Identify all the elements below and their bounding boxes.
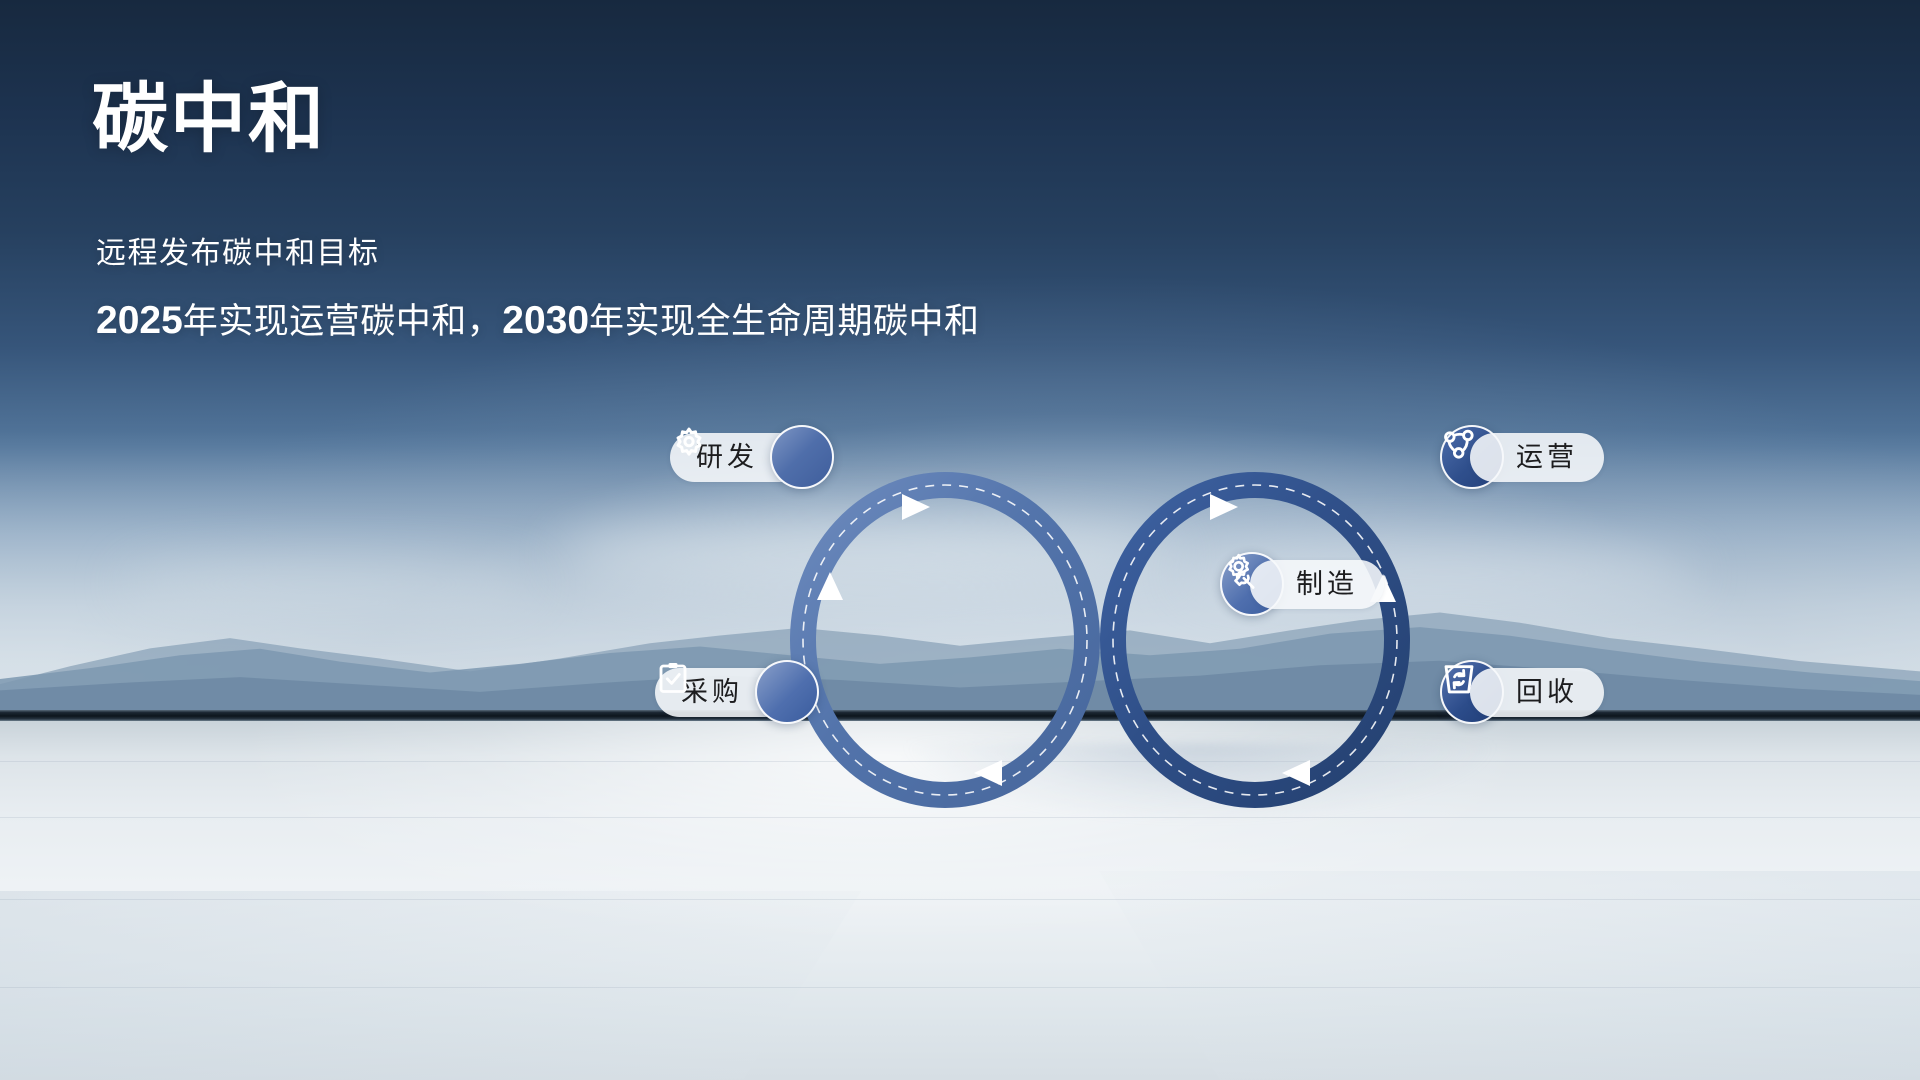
node-label-op: 运营 <box>1470 433 1604 482</box>
lifecycle-node-op[interactable]: 运营 <box>1440 425 1604 489</box>
node-label-rc: 回收 <box>1470 668 1604 717</box>
lifecycle-node-rd[interactable]: 研发 <box>670 425 834 489</box>
clipboard-check-icon[interactable] <box>755 660 819 724</box>
lifecycle-loop-diagram: 研发 采购 <box>780 480 1420 880</box>
lifecycle-node-rc[interactable]: 回收 <box>1440 660 1604 724</box>
target-year-2030: 2030 <box>502 299 589 342</box>
gear-icon[interactable] <box>770 425 834 489</box>
subtitle-segment-1: 年实现运营碳中和， <box>183 302 503 341</box>
lifecycle-node-mf[interactable]: 制造 <box>1220 552 1384 616</box>
page-title: 碳中和 <box>92 82 326 158</box>
lifecycle-node-pr[interactable]: 采购 <box>655 660 819 724</box>
target-year-2025: 2025 <box>96 299 183 342</box>
subtitle-segment-2: 年实现全生命周期碳中和 <box>589 302 980 341</box>
loop-svg <box>780 480 1420 880</box>
right-loop-ring <box>1113 485 1397 795</box>
ground-seam <box>0 987 1920 988</box>
subtitle-line-2: 2025年实现运营碳中和，2030年实现全生命周期碳中和 <box>96 297 980 346</box>
slide-canvas: 碳中和 远程发布碳中和目标 2025年实现运营碳中和，2030年实现全生命周期碳… <box>0 0 1920 1080</box>
left-loop-ring <box>803 485 1087 795</box>
node-label-mf: 制造 <box>1250 560 1384 609</box>
subtitle-line-1: 远程发布碳中和目标 <box>96 239 380 269</box>
